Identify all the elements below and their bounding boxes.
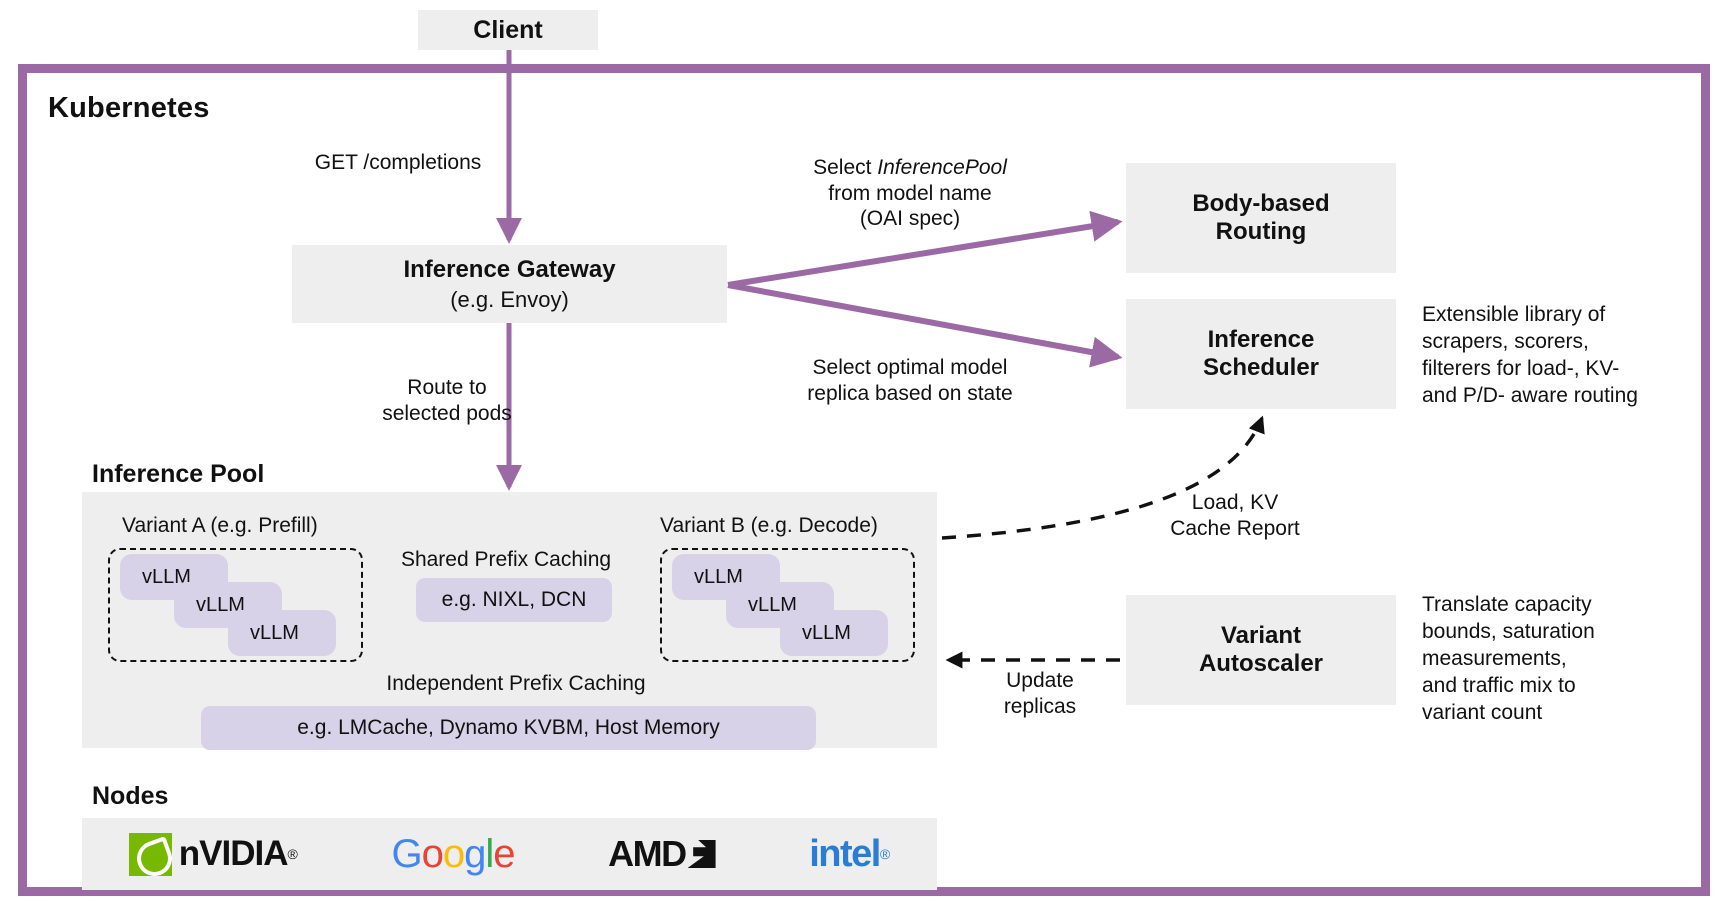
nvidia-logo: nVIDIA® <box>129 833 298 876</box>
amd-logo: AMD <box>608 833 715 875</box>
edge-label-select-optimal-replica: Select optimal model replica based on st… <box>790 355 1030 406</box>
independent-prefix-caching-value-label: e.g. LMCache, Dynamo KVBM, Host Memory <box>297 716 719 740</box>
edge-label-select-inferencepool: Select InferencePool from model name (OA… <box>790 155 1030 232</box>
edge-label-get-completions: GET /completions <box>300 150 496 176</box>
edge-label-load-kv-cache-report: Load, KV Cache Report <box>1140 490 1330 541</box>
inference-scheduler-line2: Scheduler <box>1203 354 1319 382</box>
kubernetes-title: Kubernetes <box>48 92 210 125</box>
nvidia-eye-icon <box>129 833 172 876</box>
google-logo: Google <box>391 832 514 877</box>
variant-b-pod-3-label: vLLM <box>802 622 851 645</box>
inference-gateway-subtitle: (e.g. Envoy) <box>450 287 569 312</box>
inference-scheduler-line1: Inference <box>1208 326 1315 354</box>
nvidia-logo-text: nVIDIA <box>179 834 288 874</box>
amd-arrow-icon <box>688 840 716 868</box>
amd-logo-text: AMD <box>608 833 685 875</box>
edge-label-update-replicas: Update replicas <box>970 668 1110 719</box>
inference-scheduler-box[interactable]: Inference Scheduler <box>1126 299 1396 409</box>
body-based-routing-line2: Routing <box>1216 218 1307 246</box>
inference-pool-title: Inference Pool <box>92 460 264 489</box>
google-logo-text: Google <box>391 832 514 877</box>
nodes-panel: nVIDIA® Google AMD intel® <box>82 818 937 890</box>
shared-prefix-caching-value-label: e.g. NIXL, DCN <box>442 588 587 612</box>
body-based-routing-box[interactable]: Body-based Routing <box>1126 163 1396 273</box>
intel-logo: intel® <box>809 833 890 876</box>
shared-prefix-caching-title: Shared Prefix Caching <box>386 548 626 572</box>
variant-autoscaler-box[interactable]: Variant Autoscaler <box>1126 595 1396 705</box>
variant-b-title: Variant B (e.g. Decode) <box>660 514 878 538</box>
edge-label-route-to-pods: Route to selected pods <box>372 375 522 426</box>
variant-b-pod-3[interactable]: vLLM <box>780 610 888 656</box>
variant-a-pod-3-label: vLLM <box>250 622 299 645</box>
inference-gateway-box[interactable]: Inference Gateway (e.g. Envoy) <box>292 245 727 323</box>
client-label: Client <box>473 16 542 45</box>
edge-label-inferencepool-emphasis: InferencePool <box>877 156 1007 179</box>
nodes-title: Nodes <box>92 782 168 811</box>
independent-prefix-caching-value[interactable]: e.g. LMCache, Dynamo KVBM, Host Memory <box>201 706 816 750</box>
intel-registered-mark: ® <box>880 846 890 862</box>
variant-autoscaler-note: Translate capacity bounds, saturation me… <box>1422 592 1712 726</box>
client-box[interactable]: Client <box>418 10 598 50</box>
nvidia-registered-mark: ® <box>288 846 298 862</box>
variant-a-pod-3[interactable]: vLLM <box>228 610 336 656</box>
shared-prefix-caching-value[interactable]: e.g. NIXL, DCN <box>416 578 612 622</box>
variant-autoscaler-line1: Variant <box>1221 622 1301 650</box>
edge-label-select-suffix: from model name (OAI spec) <box>828 182 991 231</box>
independent-prefix-caching-title: Independent Prefix Caching <box>356 672 676 696</box>
variant-a-title: Variant A (e.g. Prefill) <box>122 514 318 538</box>
body-based-routing-line1: Body-based <box>1192 190 1329 218</box>
intel-logo-text: intel <box>809 833 880 876</box>
variant-autoscaler-line2: Autoscaler <box>1199 650 1323 678</box>
edge-label-select-prefix: Select <box>813 156 877 179</box>
inference-gateway-title: Inference Gateway <box>403 256 615 284</box>
inference-scheduler-note: Extensible library of scrapers, scorers,… <box>1422 302 1702 410</box>
